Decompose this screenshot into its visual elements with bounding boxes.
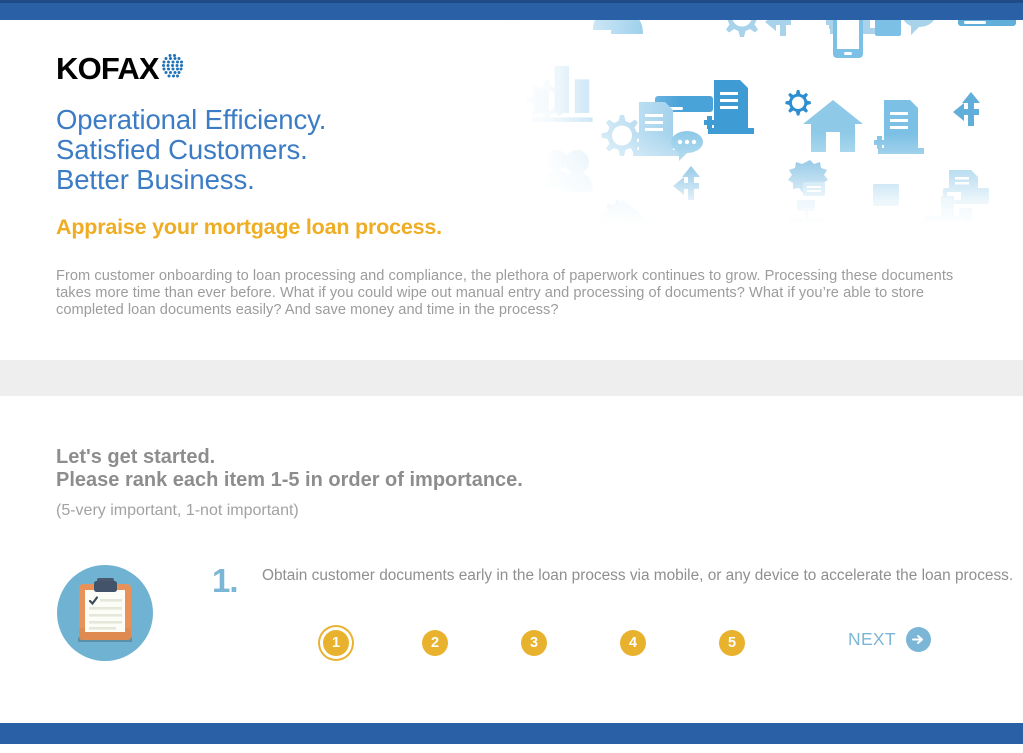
bottom-accent-bar [0, 723, 1023, 744]
collage-svg [503, 20, 1023, 225]
rating-option-4[interactable]: 4 [620, 630, 646, 656]
rating-option-5[interactable]: 5 [719, 630, 745, 656]
headline-line-3: Better Business. [56, 165, 326, 195]
hero-header: KOFAX [0, 20, 1023, 360]
clipboard-checklist-icon [56, 564, 154, 662]
rating-scale: 1 2 3 4 5 NEXT [271, 624, 971, 668]
logo-wordmark: KOFAX [56, 53, 159, 84]
headline-line-2: Satisfied Customers. [56, 135, 326, 165]
hero-body-copy: From customer onboarding to loan process… [56, 268, 966, 320]
next-button-label: NEXT [848, 629, 896, 650]
kofax-survey-page: { "brand": { "logo_text": "KOFAX", "logo… [0, 0, 1023, 753]
question-text: Obtain customer documents early in the l… [262, 567, 1022, 585]
headline-line-1: Operational Efficiency. [56, 105, 326, 135]
rating-option-2[interactable]: 2 [422, 630, 448, 656]
survey-heading: Let's get started. Please rank each item… [56, 446, 523, 492]
bottom-white-margin [0, 744, 1023, 753]
section-divider-band [0, 360, 1023, 396]
rating-option-1[interactable]: 1 [323, 630, 349, 656]
survey-heading-line-2: Please rank each item 1-5 in order of im… [56, 469, 523, 492]
arrow-right-circle-icon [906, 627, 931, 652]
survey-section: Let's get started. Please rank each item… [0, 396, 1023, 723]
kofax-logo[interactable]: KOFAX [56, 52, 184, 84]
question-number: 1. [212, 564, 238, 597]
hero-headline: Operational Efficiency. Satisfied Custom… [56, 105, 326, 195]
top-accent-bar [0, 0, 1023, 20]
hero-subheadline: Appraise your mortgage loan process. [56, 215, 442, 240]
survey-heading-line-1: Let's get started. [56, 446, 523, 469]
next-button[interactable]: NEXT [848, 627, 931, 652]
rating-option-3[interactable]: 3 [521, 630, 547, 656]
survey-scale-note: (5-very important, 1-not important) [56, 502, 299, 520]
dotted-sphere-icon [160, 53, 184, 84]
decorative-icon-collage [503, 20, 1023, 225]
